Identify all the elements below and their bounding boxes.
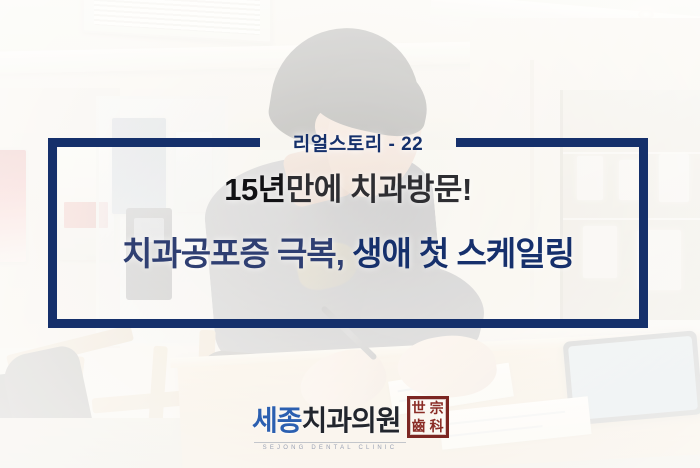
logo-row: 세종 치과의원 世 宗 齒 科 <box>252 396 462 439</box>
headline-line-2-part-1: 치과공포증 극복, <box>122 235 352 272</box>
frame-bottom-bar <box>48 319 648 328</box>
banner-image: 리얼스토리 - 22 15년만에 치과방문! 치과공포증 극복, 생애 첫 스케… <box>0 0 700 468</box>
form-line <box>449 425 543 437</box>
headline-line-1: 15년만에 치과방문! <box>48 164 648 209</box>
seal-char-1: 世 <box>412 401 426 415</box>
clinic-logo: 세종 치과의원 世 宗 齒 科 SEJONG DENTAL CLINIC <box>252 396 462 452</box>
seal-char-3: 齒 <box>412 419 426 433</box>
headline-block: 15년만에 치과방문! 치과공포증 극복, 생애 첫 스케일링 <box>48 164 648 275</box>
seal-char-4: 科 <box>430 419 444 433</box>
hanja-seal-icon: 世 宗 齒 科 <box>407 396 449 438</box>
seal-char-2: 宗 <box>430 401 444 415</box>
cabinet-item <box>659 154 689 202</box>
headline-line-2-part-2: 생애 첫 스케일링 <box>352 235 574 272</box>
headline-line-1-rest: 만에 치과방문! <box>286 172 472 207</box>
headline-line-1-highlight: 15년 <box>224 172 286 207</box>
series-badge: 리얼스토리 - 22 <box>260 127 456 157</box>
frame-top-left-bar <box>48 138 260 147</box>
logo-name-dark: 치과의원 <box>302 399 401 439</box>
wall-poster <box>0 150 26 262</box>
headline-line-2: 치과공포증 극복, 생애 첫 스케일링 <box>48 227 648 275</box>
headline-frame: 리얼스토리 - 22 15년만에 치과방문! 치과공포증 극복, 생애 첫 스케… <box>48 138 648 328</box>
frame-top-right-bar <box>456 138 648 147</box>
form-line <box>448 411 566 425</box>
logo-name-blue: 세종 <box>252 399 302 439</box>
series-badge-label: 리얼스토리 - 22 <box>293 129 423 156</box>
logo-subtitle: SEJONG DENTAL CLINIC <box>254 442 406 451</box>
